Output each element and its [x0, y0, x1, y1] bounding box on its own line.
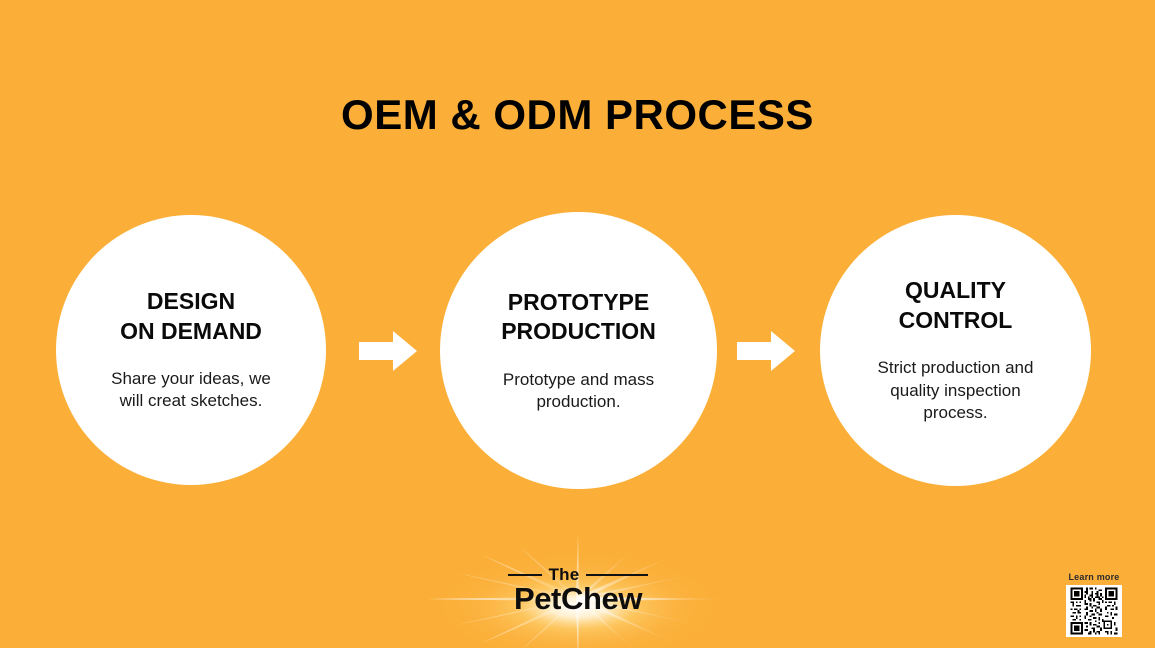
step-heading: PROTOTYPE PRODUCTION: [501, 288, 656, 347]
process-step-prototype-production: PROTOTYPE PRODUCTION Prototype and mass …: [440, 212, 717, 489]
step-heading: QUALITY CONTROL: [899, 276, 1013, 335]
qr-label: Learn more: [1063, 572, 1125, 583]
step-description: Strict production and quality inspection…: [867, 357, 1045, 424]
logo-wordmark: The PetChew: [428, 533, 728, 648]
step-heading: DESIGN ON DEMAND: [120, 287, 262, 346]
arrow-right-icon: [359, 331, 417, 371]
step-description: Prototype and mass production.: [489, 369, 669, 414]
logo-rule-right: [586, 574, 648, 576]
page-title: OEM & ODM PROCESS: [0, 92, 1155, 138]
logo-brand-name: PetChew: [514, 583, 642, 616]
brand-logo: The PetChew: [428, 533, 728, 648]
qr-badge[interactable]: Learn more: [1063, 572, 1125, 637]
process-step-design-on-demand: DESIGN ON DEMAND Share your ideas, we wi…: [56, 215, 326, 485]
logo-rule-left: [508, 574, 542, 576]
slide-canvas: OEM & ODM PROCESS DESIGN ON DEMAND Share…: [0, 0, 1155, 648]
step-description: Share your ideas, we will creat sketches…: [99, 368, 284, 413]
qr-code-icon[interactable]: [1066, 585, 1122, 637]
process-step-quality-control: QUALITY CONTROL Strict production and qu…: [820, 215, 1091, 486]
arrow-right-icon: [737, 331, 795, 371]
